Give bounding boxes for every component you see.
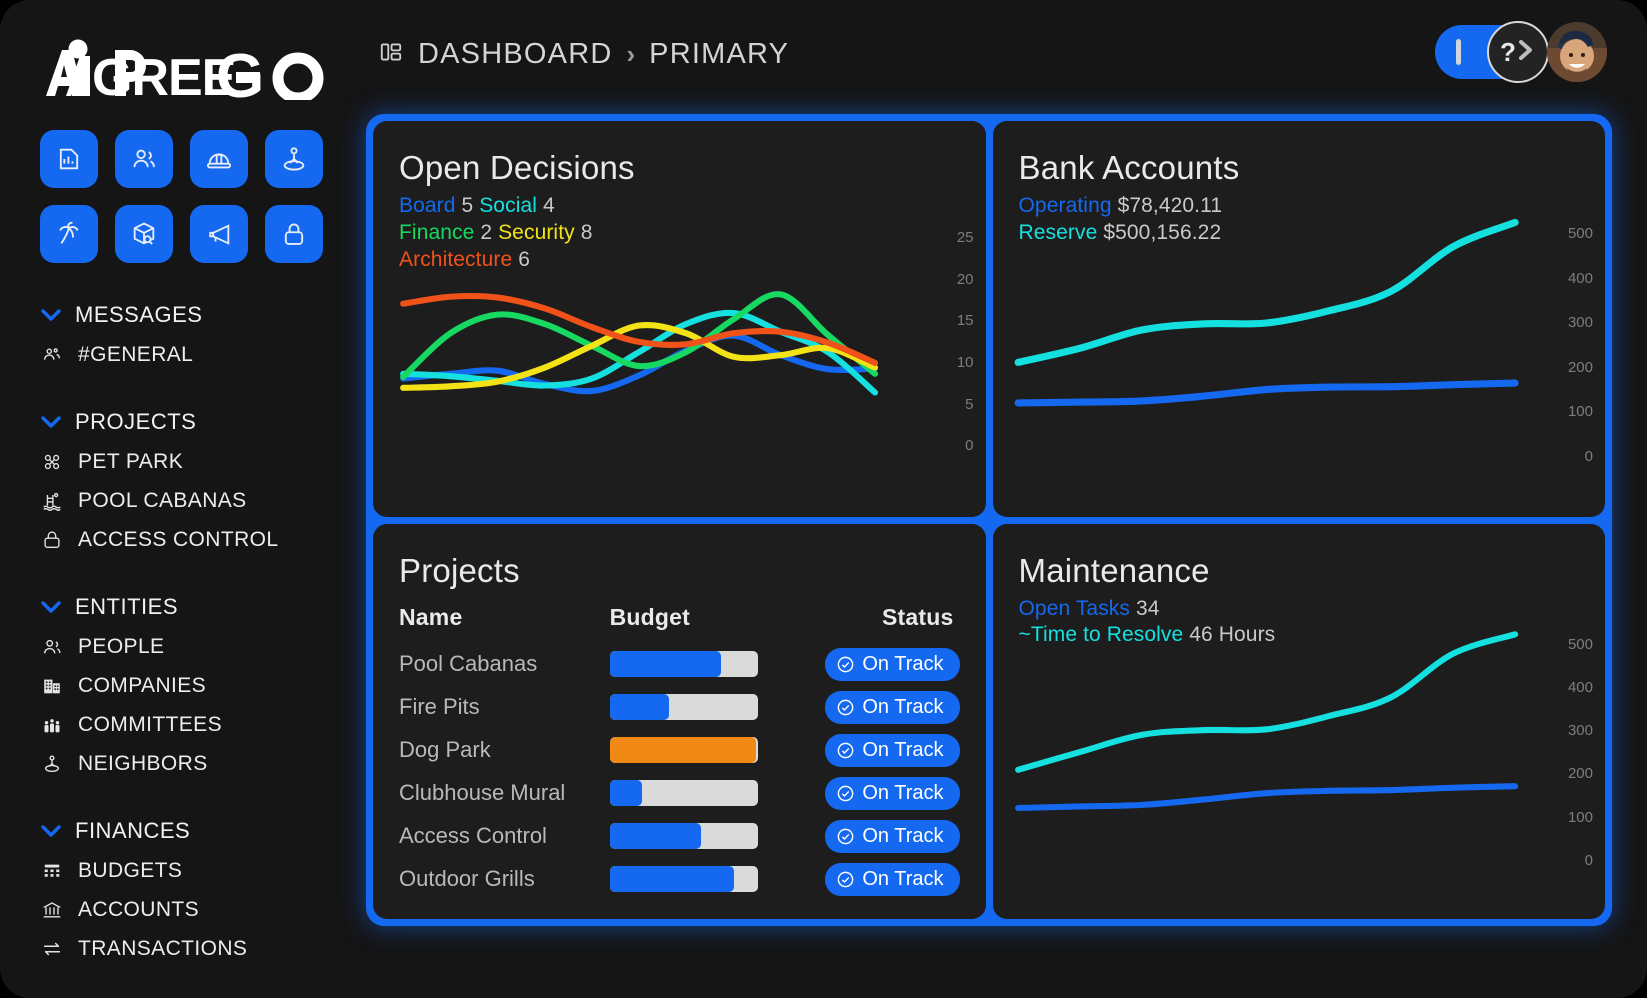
- budget-progress-bar: [610, 694, 758, 720]
- cell-status: On Track: [790, 772, 960, 815]
- cell-budget: [610, 729, 790, 772]
- card-open-decisions: Open Decisions Board 5 Social 4 Finance …: [373, 121, 986, 517]
- legend-row-1: Board 5 Social 4: [399, 193, 960, 220]
- sidebar-item-label: ACCESS CONTROL: [78, 528, 278, 552]
- legend-label-social: Social: [479, 194, 537, 217]
- sidebar-group-header-messages[interactable]: MESSAGES: [40, 295, 370, 335]
- toggle-track-marker: [1456, 39, 1461, 65]
- legend-value-reserve: $500,156.22: [1103, 221, 1221, 244]
- pool-icon: [40, 490, 64, 512]
- chart-line--time-to-resolve: [1018, 634, 1515, 770]
- legend-row-2: ~Time to Resolve 46 Hours: [1019, 622, 1580, 649]
- budget-progress-fill: [610, 694, 669, 720]
- legend-value-security: 8: [581, 221, 593, 244]
- legend-label-open-tasks: Open Tasks: [1019, 597, 1131, 620]
- y-tick-label: 200: [1568, 359, 1593, 376]
- budget-progress-fill: [610, 737, 757, 763]
- bank-accounts-y-axis: 5004003002001000: [1568, 225, 1593, 465]
- chevron-right-icon: [1517, 38, 1536, 67]
- y-tick-label: 25: [957, 229, 974, 246]
- sidebar-group-projects: PROJECTS PET PARK: [40, 402, 370, 559]
- sidebar-item-label: NEIGHBORS: [78, 752, 208, 776]
- legend-value-board: 5: [461, 194, 473, 217]
- report-icon-tile[interactable]: [40, 130, 98, 188]
- budget-progress-fill: [610, 780, 643, 806]
- budget-progress-fill: [610, 651, 721, 677]
- lock-icon: [280, 220, 308, 248]
- sidebar-item-label: BUDGETS: [78, 859, 182, 883]
- table-row[interactable]: Access ControlOn Track: [399, 815, 960, 858]
- sidebar-item-label: POOL CABANAS: [78, 489, 247, 513]
- legend-label-finance: Finance: [399, 221, 474, 244]
- people-icon-tile[interactable]: [115, 130, 173, 188]
- sidebar-item-general[interactable]: #GENERAL: [40, 335, 370, 374]
- status-label: On Track: [862, 653, 943, 676]
- budget-progress-fill: [610, 866, 734, 892]
- cell-name: Clubhouse Mural: [399, 772, 610, 815]
- cell-name: Access Control: [399, 815, 610, 858]
- chart-line-operating: [1018, 383, 1515, 403]
- sidebar-group-entities: ENTITIES PEOPLE: [40, 587, 370, 783]
- report-icon: [55, 145, 83, 173]
- budget-progress-bar: [610, 737, 758, 763]
- chart-line-security: [403, 325, 875, 388]
- breadcrumb-current[interactable]: PRIMARY: [649, 38, 789, 71]
- column-header-status: Status: [790, 604, 960, 643]
- budget-progress-bar: [610, 651, 758, 677]
- status-badge[interactable]: On Track: [825, 648, 959, 681]
- sidebar-item-access-control[interactable]: ACCESS CONTROL: [40, 520, 370, 559]
- chart-line-board: [403, 336, 875, 392]
- check-circle-icon: [836, 698, 855, 717]
- sidebar-group-label: PROJECTS: [75, 409, 196, 435]
- app-root: A GREE G: [0, 0, 1647, 998]
- table-row[interactable]: Clubhouse MuralOn Track: [399, 772, 960, 815]
- cell-budget: [610, 858, 790, 901]
- grid-icon: [40, 860, 64, 882]
- legend-label-board: Board: [399, 194, 456, 217]
- neighbors-icon: [280, 145, 308, 173]
- y-tick-label: 0: [1585, 448, 1593, 465]
- legend-label-architecture: Architecture: [399, 248, 512, 271]
- sidebar-item-label: PET PARK: [78, 450, 183, 474]
- header-actions: ?: [1435, 22, 1607, 82]
- toggle-knob[interactable]: ?: [1487, 21, 1549, 83]
- neighbors-icon: [40, 753, 64, 775]
- sidebar-item-budgets[interactable]: BUDGETS: [40, 851, 370, 890]
- transfer-icon: [40, 938, 64, 960]
- quick-tiles: [40, 130, 323, 263]
- group-chat-icon: [40, 344, 64, 366]
- chart-line-open-tasks: [1018, 786, 1515, 808]
- table-row[interactable]: Pool CabanasOn Track: [399, 643, 960, 686]
- sidebar-item-label: ACCOUNTS: [78, 898, 199, 922]
- projects-table-body: Pool CabanasOn TrackFire PitsOn TrackDog…: [399, 643, 960, 901]
- legend-row-1: Open Tasks 34: [1019, 596, 1580, 623]
- budget-progress-bar: [610, 866, 758, 892]
- check-circle-icon: [836, 827, 855, 846]
- chart-line-finance: [403, 294, 875, 377]
- sidebar-item-label: TRANSACTIONS: [78, 937, 247, 961]
- status-badge[interactable]: On Track: [825, 734, 959, 767]
- legend-label-operating: Operating: [1019, 194, 1112, 217]
- budget-progress-bar: [610, 823, 758, 849]
- brand-logo[interactable]: A GREE G: [40, 30, 370, 108]
- cell-budget: [610, 772, 790, 815]
- projects-table: Name Budget Status Pool CabanasOn TrackF…: [399, 604, 960, 901]
- status-badge[interactable]: On Track: [825, 863, 959, 896]
- y-tick-label: 200: [1568, 765, 1593, 782]
- column-header-budget: Budget: [610, 604, 790, 643]
- sidebar-item-label: #GENERAL: [78, 343, 193, 367]
- building-icon: [40, 675, 64, 697]
- sidebar-item-pool-cabanas[interactable]: POOL CABANAS: [40, 481, 370, 520]
- y-tick-label: 100: [1568, 403, 1593, 420]
- cell-status: On Track: [790, 815, 960, 858]
- paw-icon: [40, 451, 64, 473]
- question-mark-label: ?: [1500, 39, 1516, 65]
- cell-name: Dog Park: [399, 729, 610, 772]
- package-search-icon-tile[interactable]: [115, 205, 173, 263]
- card-maintenance: Maintenance Open Tasks 34 ~Time to Resol…: [993, 524, 1606, 920]
- chevron-down-icon: [40, 824, 62, 838]
- y-tick-label: 400: [1568, 679, 1593, 696]
- committee-icon: [40, 714, 64, 736]
- breadcrumb-separator-icon: ›: [627, 39, 636, 70]
- y-tick-label: 400: [1568, 270, 1593, 287]
- legend-value-architecture: 6: [518, 248, 530, 271]
- y-tick-label: 0: [965, 437, 973, 454]
- sidebar-group-label: FINANCES: [75, 818, 190, 844]
- legend-value-social: 4: [543, 194, 555, 217]
- budget-progress-bar: [610, 780, 758, 806]
- legend-value-open-tasks: 34: [1136, 597, 1160, 620]
- lock-icon: [40, 529, 64, 551]
- y-tick-label: 300: [1568, 722, 1593, 739]
- card-bank-accounts: Bank Accounts Operating $78,420.11 Reser…: [993, 121, 1606, 517]
- cell-status: On Track: [790, 686, 960, 729]
- table-row[interactable]: Fire PitsOn Track: [399, 686, 960, 729]
- sidebar-group-finances: FINANCES BUDGETS: [40, 811, 370, 968]
- chevron-down-icon: [40, 415, 62, 429]
- cell-name: Fire Pits: [399, 686, 610, 729]
- card-title: Projects: [399, 552, 960, 590]
- card-title: Maintenance: [1019, 552, 1580, 590]
- table-row[interactable]: Dog ParkOn Track: [399, 729, 960, 772]
- sidebar-item-accounts[interactable]: ACCOUNTS: [40, 890, 370, 929]
- y-tick-label: 5: [965, 396, 973, 413]
- status-badge[interactable]: On Track: [825, 777, 959, 810]
- sidebar-item-label: PEOPLE: [78, 635, 164, 659]
- status-badge[interactable]: On Track: [825, 820, 959, 853]
- sidebar: A GREE G: [0, 0, 370, 998]
- assistant-toggle[interactable]: ?: [1435, 25, 1535, 79]
- breadcrumb: DASHBOARD › PRIMARY: [378, 38, 789, 71]
- legend-label-security: Security: [498, 221, 575, 244]
- sidebar-group-header-finances[interactable]: FINANCES: [40, 811, 370, 851]
- status-label: On Track: [862, 825, 943, 848]
- chart-line-architecture: [403, 296, 875, 363]
- sidebar-group-header-entities[interactable]: ENTITIES: [40, 587, 370, 627]
- y-tick-label: 10: [957, 354, 974, 371]
- legend-row-1: Operating $78,420.11: [1019, 193, 1580, 220]
- chevron-down-icon: [40, 600, 62, 614]
- neighbors-icon-tile[interactable]: [265, 130, 323, 188]
- sidebar-item-label: COMMITTEES: [78, 713, 222, 737]
- column-header-name: Name: [399, 604, 610, 643]
- sidebar-item-people[interactable]: PEOPLE: [40, 627, 370, 666]
- megaphone-icon-tile[interactable]: [190, 205, 248, 263]
- package-search-icon: [130, 220, 158, 248]
- cell-name: Pool Cabanas: [399, 643, 610, 686]
- svg-text:GREE: GREE: [92, 49, 235, 100]
- status-label: On Track: [862, 782, 943, 805]
- legend-value-operating: $78,420.11: [1118, 194, 1223, 217]
- y-tick-label: 20: [957, 271, 974, 288]
- avatar[interactable]: [1547, 22, 1607, 82]
- check-circle-icon: [836, 784, 855, 803]
- y-tick-label: 100: [1568, 809, 1593, 826]
- dashboard-grid: Open Decisions Board 5 Social 4 Finance …: [366, 114, 1612, 926]
- cell-name: Outdoor Grills: [399, 858, 610, 901]
- sidebar-item-companies[interactable]: COMPANIES: [40, 666, 370, 705]
- y-tick-label: 15: [957, 312, 974, 329]
- cell-status: On Track: [790, 858, 960, 901]
- megaphone-icon: [205, 220, 233, 248]
- y-tick-label: 0: [1585, 852, 1593, 869]
- legend-label-reserve: Reserve: [1019, 221, 1098, 244]
- legend-row-3: Architecture 6: [399, 247, 960, 274]
- chart-line-social: [403, 313, 875, 393]
- table-header-row: Name Budget Status: [399, 604, 960, 643]
- chevron-down-icon: [40, 308, 62, 322]
- card-title: Open Decisions: [399, 149, 960, 187]
- legend-label-time-to-resolve: ~Time to Resolve: [1019, 623, 1184, 646]
- card-title: Bank Accounts: [1019, 149, 1580, 187]
- y-tick-label: 500: [1568, 636, 1593, 653]
- palm-tree-icon: [55, 220, 83, 248]
- people-icon: [130, 145, 158, 173]
- cell-status: On Track: [790, 729, 960, 772]
- bank-icon: [40, 899, 64, 921]
- hardhat-icon: [205, 145, 233, 173]
- status-label: On Track: [862, 868, 943, 891]
- check-circle-icon: [836, 655, 855, 674]
- check-circle-icon: [836, 741, 855, 760]
- cell-budget: [610, 643, 790, 686]
- y-tick-label: 300: [1568, 314, 1593, 331]
- sidebar-item-pet-park[interactable]: PET PARK: [40, 442, 370, 481]
- sidebar-group-label: MESSAGES: [75, 302, 202, 328]
- breadcrumb-root[interactable]: DASHBOARD: [418, 38, 613, 71]
- sidebar-group-messages: MESSAGES #GENERAL: [40, 295, 370, 374]
- sidebar-item-transactions[interactable]: TRANSACTIONS: [40, 929, 370, 968]
- legend-row-2: Reserve $500,156.22: [1019, 220, 1580, 247]
- people-icon: [40, 636, 64, 658]
- table-row[interactable]: Outdoor GrillsOn Track: [399, 858, 960, 901]
- legend-row-2: Finance 2 Security 8: [399, 220, 960, 247]
- legend-value-finance: 2: [480, 221, 492, 244]
- cell-status: On Track: [790, 643, 960, 686]
- sidebar-item-committees[interactable]: COMMITTEES: [40, 705, 370, 744]
- hardhat-icon-tile[interactable]: [190, 130, 248, 188]
- lock-icon-tile[interactable]: [265, 205, 323, 263]
- dashboard-icon: [378, 39, 404, 70]
- svg-text:G: G: [216, 42, 262, 100]
- check-circle-icon: [836, 870, 855, 889]
- y-tick-label: 500: [1568, 225, 1593, 242]
- sidebar-item-label: COMPANIES: [78, 674, 206, 698]
- open-decisions-y-axis: 2520151050: [957, 229, 974, 455]
- header: DASHBOARD › PRIMARY ?: [370, 0, 1647, 112]
- budget-progress-fill: [610, 823, 702, 849]
- status-label: On Track: [862, 696, 943, 719]
- sidebar-group-header-projects[interactable]: PROJECTS: [40, 402, 370, 442]
- cell-budget: [610, 815, 790, 858]
- sidebar-nav: MESSAGES #GENERAL: [40, 295, 370, 968]
- status-badge[interactable]: On Track: [825, 691, 959, 724]
- card-projects: Projects Name Budget Status Pool Cabanas…: [373, 524, 986, 920]
- palm-tree-icon-tile[interactable]: [40, 205, 98, 263]
- maintenance-y-axis: 5004003002001000: [1568, 636, 1593, 870]
- sidebar-item-neighbors[interactable]: NEIGHBORS: [40, 744, 370, 783]
- legend-value-time-to-resolve: 46 Hours: [1189, 623, 1275, 646]
- status-label: On Track: [862, 739, 943, 762]
- sidebar-group-label: ENTITIES: [75, 594, 178, 620]
- cell-budget: [610, 686, 790, 729]
